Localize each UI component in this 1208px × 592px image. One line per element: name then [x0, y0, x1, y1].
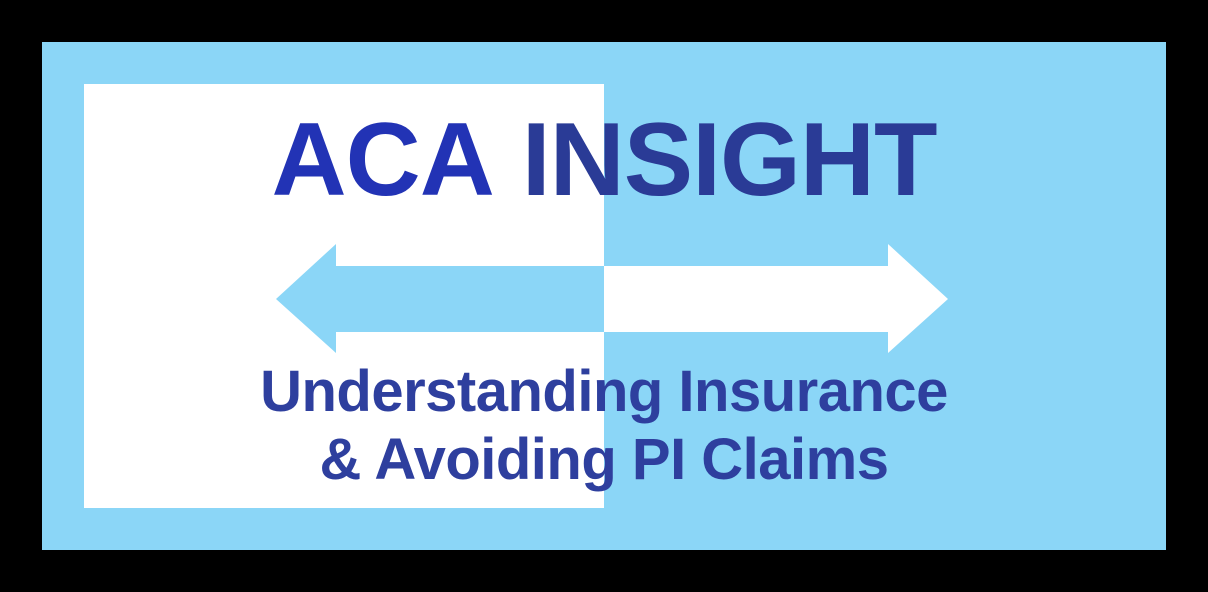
title-part-aca: ACA	[271, 102, 493, 218]
left-arrowhead-half	[276, 244, 604, 353]
double-headed-arrow	[276, 242, 948, 356]
title-space	[494, 102, 522, 218]
subtitle-line-2: & Avoiding PI Claims	[0, 426, 1208, 494]
banner-graphic: ACA INSIGHT Understanding Insurance & Av…	[0, 0, 1208, 592]
subtitle-line-1: Understanding Insurance	[0, 358, 1208, 426]
page-subtitle: Understanding Insurance & Avoiding PI Cl…	[0, 358, 1208, 494]
right-arrowhead-half	[604, 244, 948, 353]
page-title: ACA INSIGHT	[0, 108, 1208, 212]
title-part-insight: INSIGHT	[522, 102, 937, 218]
